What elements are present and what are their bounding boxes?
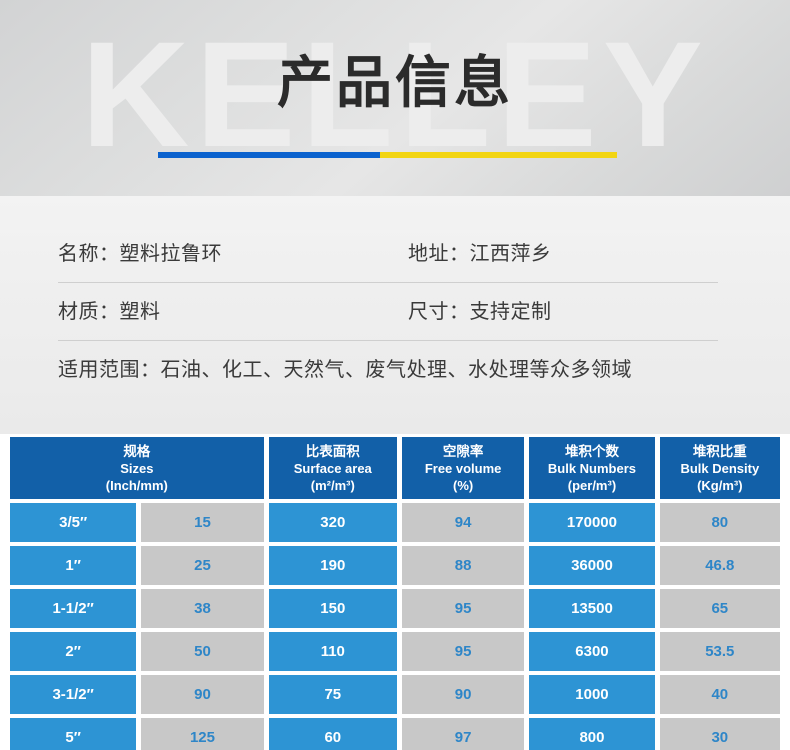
cell-bulk-numbers: 36000 [529, 546, 654, 585]
info-row: 适用范围：石油、化工、天然气、废气处理、水处理等众多领域 [58, 341, 732, 399]
cell-surface-area: 75 [269, 675, 397, 714]
info-applications: 适用范围：石油、化工、天然气、废气处理、水处理等众多领域 [58, 356, 732, 384]
header-surface-area-unit: (m²/m³) [311, 477, 355, 494]
table-row: 1″ 25 190 88 36000 46.8 [10, 546, 780, 589]
info-material: 材质：塑料 [58, 298, 408, 326]
header-bulk-numbers-cn: 堆积个数 [565, 443, 619, 460]
cell-surface-area: 320 [269, 503, 397, 542]
header-bulk-numbers-en: Bulk Numbers [548, 460, 636, 477]
header-bulk-density-unit: (Kg/m³) [697, 477, 743, 494]
cell-size-mm: 50 [141, 632, 263, 671]
cell-size-inch: 1-1/2″ [10, 589, 136, 628]
table-row: 5″ 125 60 97 800 30 [10, 718, 780, 750]
header-bulk-density-en: Bulk Density [680, 460, 759, 477]
header-free-volume-en: Free volume [425, 460, 502, 477]
cell-size-mm: 90 [141, 675, 263, 714]
cell-bulk-density: 65 [660, 589, 780, 628]
info-address: 地址：江西萍乡 [408, 240, 732, 268]
cell-free-volume: 95 [402, 632, 524, 671]
page-title: 产品信息 [0, 52, 790, 114]
info-row: 名称：塑料拉鲁环 地址：江西萍乡 [58, 225, 732, 283]
table-row: 3-1/2″ 90 75 90 1000 40 [10, 675, 780, 718]
cell-bulk-density: 40 [660, 675, 780, 714]
cell-bulk-numbers: 13500 [529, 589, 654, 628]
cell-surface-area: 110 [269, 632, 397, 671]
header-free-volume-unit: (%) [453, 477, 473, 494]
cell-bulk-density: 80 [660, 503, 780, 542]
header-free-volume-cn: 空隙率 [443, 443, 484, 460]
cell-free-volume: 94 [402, 503, 524, 542]
header-sizes-en: Sizes [120, 460, 153, 477]
header-free-volume: 空隙率 Free volume (%) [402, 437, 524, 499]
cell-free-volume: 97 [402, 718, 524, 750]
info-name: 名称：塑料拉鲁环 [58, 240, 408, 268]
header-bulk-numbers: 堆积个数 Bulk Numbers (per/m³) [529, 437, 654, 499]
info-block: 名称：塑料拉鲁环 地址：江西萍乡 材质：塑料 尺寸：支持定制 适用范围：石油、化… [0, 196, 790, 434]
info-row: 材质：塑料 尺寸：支持定制 [58, 283, 732, 341]
hero-banner: KELLEY 产品信息 [0, 0, 790, 196]
cell-free-volume: 90 [402, 675, 524, 714]
header-sizes: 规格 Sizes (Inch/mm) [10, 437, 264, 499]
cell-surface-area: 190 [269, 546, 397, 585]
spec-table: 规格 Sizes (Inch/mm) 比表面积 Surface area (m²… [10, 437, 780, 750]
cell-bulk-numbers: 800 [529, 718, 654, 750]
cell-bulk-density: 53.5 [660, 632, 780, 671]
cell-size-mm: 15 [141, 503, 263, 542]
table-header-row: 规格 Sizes (Inch/mm) 比表面积 Surface area (m²… [10, 437, 780, 503]
cell-free-volume: 88 [402, 546, 524, 585]
cell-size-mm: 38 [141, 589, 263, 628]
cell-bulk-density: 30 [660, 718, 780, 750]
header-sizes-cn: 规格 [123, 443, 150, 460]
header-surface-area-en: Surface area [294, 460, 372, 477]
accent-rule-blue [158, 152, 380, 158]
cell-bulk-density: 46.8 [660, 546, 780, 585]
product-info-page: KELLEY 产品信息 名称：塑料拉鲁环 地址：江西萍乡 材质：塑料 尺寸：支持… [0, 0, 790, 750]
header-surface-area: 比表面积 Surface area (m²/m³) [269, 437, 397, 499]
header-bulk-numbers-unit: (per/m³) [568, 477, 616, 494]
cell-size-mm: 125 [141, 718, 263, 750]
cell-size-inch: 3-1/2″ [10, 675, 136, 714]
header-bulk-density: 堆积比重 Bulk Density (Kg/m³) [660, 437, 780, 499]
table-row: 1-1/2″ 38 150 95 13500 65 [10, 589, 780, 632]
cell-size-inch: 2″ [10, 632, 136, 671]
cell-size-inch: 1″ [10, 546, 136, 585]
accent-rule-yellow [380, 152, 617, 158]
table-row: 3/5″ 15 320 94 170000 80 [10, 503, 780, 546]
cell-size-mm: 25 [141, 546, 263, 585]
cell-surface-area: 150 [269, 589, 397, 628]
cell-surface-area: 60 [269, 718, 397, 750]
cell-size-inch: 3/5″ [10, 503, 136, 542]
header-bulk-density-cn: 堆积比重 [693, 443, 747, 460]
header-sizes-unit: (Inch/mm) [106, 477, 168, 494]
table-row: 2″ 50 110 95 6300 53.5 [10, 632, 780, 675]
cell-bulk-numbers: 1000 [529, 675, 654, 714]
cell-size-inch: 5″ [10, 718, 136, 750]
header-surface-area-cn: 比表面积 [306, 443, 360, 460]
info-size: 尺寸：支持定制 [408, 298, 732, 326]
cell-bulk-numbers: 6300 [529, 632, 654, 671]
cell-bulk-numbers: 170000 [529, 503, 654, 542]
cell-free-volume: 95 [402, 589, 524, 628]
